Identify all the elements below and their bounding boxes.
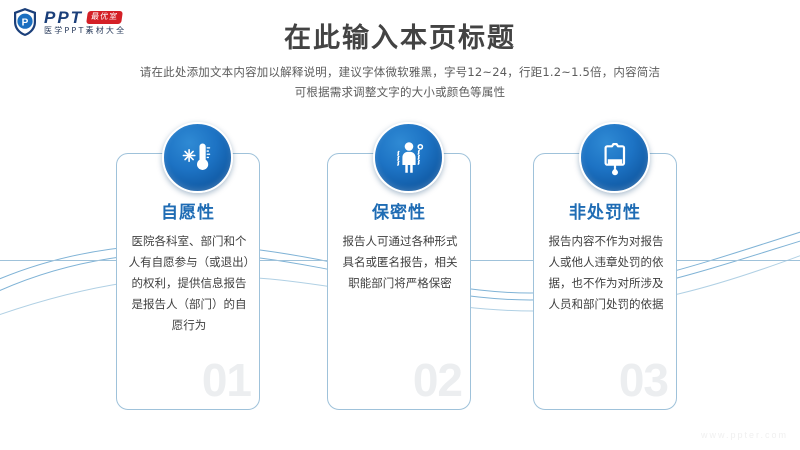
logo-brand-name: PPT: [44, 9, 83, 26]
card-title: 自愿性: [117, 198, 259, 223]
thermometer-snowflake-icon: [162, 122, 233, 193]
patient-symptoms-icon: [373, 122, 444, 193]
logo-brand-row: PPT 最优室: [44, 9, 126, 26]
card-title: 非处罚性: [534, 198, 676, 223]
page-subtitle: 请在此处添加文本内容加以解释说明，建议字体微软雅黑，字号12~24，行距1.2~…: [0, 62, 800, 102]
iv-drip-bag-icon: [579, 122, 650, 193]
card-title: 保密性: [328, 198, 470, 223]
brand-logo[interactable]: P PPT 最优室 医学PPT素材大全: [12, 7, 126, 37]
svg-text:P: P: [22, 17, 29, 28]
card-body-text: 医院各科室、部门和个人有自愿参与（或退出）的权利，提供信息报告是报告人（部门）的…: [127, 231, 251, 336]
logo-text-block: PPT 最优室 医学PPT素材大全: [44, 9, 126, 35]
logo-badge: 最优室: [86, 11, 123, 24]
card-number: 02: [413, 357, 462, 403]
card-number: 03: [619, 357, 668, 403]
card-body-text: 报告人可通过各种形式具名或匿名报告，相关职能部门将严格保密: [338, 231, 462, 294]
shield-p-icon: P: [12, 7, 38, 37]
card-number: 01: [202, 357, 251, 403]
card-body-text: 报告内容不作为对报告人或他人违章处罚的依据，也不作为对所涉及人员和部门处罚的依据: [544, 231, 668, 315]
logo-tagline: 医学PPT素材大全: [44, 27, 126, 35]
subtitle-line-1: 请在此处添加文本内容加以解释说明，建议字体微软雅黑，字号12~24，行距1.2~…: [0, 62, 800, 82]
subtitle-line-2: 可根据需求调整文字的大小或颜色等属性: [0, 82, 800, 102]
site-watermark: www.ppter.com: [701, 430, 788, 440]
